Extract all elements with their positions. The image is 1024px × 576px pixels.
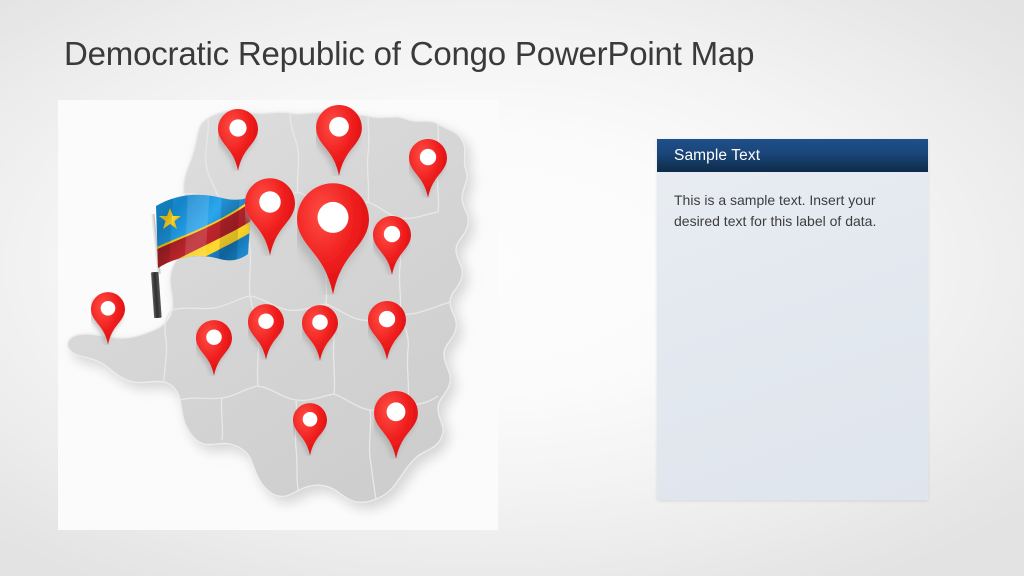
map-pin[interactable]: [409, 139, 447, 198]
map-pin[interactable]: [373, 216, 411, 275]
map-pin[interactable]: [293, 403, 327, 456]
map-pin[interactable]: [91, 292, 125, 345]
map-pin[interactable]: [245, 178, 295, 256]
map-pin[interactable]: [196, 320, 232, 376]
map-pin[interactable]: [248, 304, 284, 360]
map-pin[interactable]: [218, 109, 258, 171]
panel-body-text: This is a sample text. Insert your desir…: [657, 172, 928, 232]
map-pin[interactable]: [316, 105, 362, 176]
map-pin[interactable]: [374, 391, 418, 459]
map-pin[interactable]: [368, 301, 406, 360]
map-pin[interactable]: [297, 183, 369, 295]
map-pin[interactable]: [302, 305, 338, 361]
sample-text-panel[interactable]: Sample Text This is a sample text. Inser…: [657, 139, 928, 500]
page-title: Democratic Republic of Congo PowerPoint …: [64, 32, 754, 76]
flag-pole-lower: [151, 272, 162, 318]
panel-title: Sample Text: [657, 147, 760, 165]
panel-header: Sample Text: [657, 139, 928, 172]
slide-canvas: Democratic Republic of Congo PowerPoint …: [0, 0, 1024, 576]
